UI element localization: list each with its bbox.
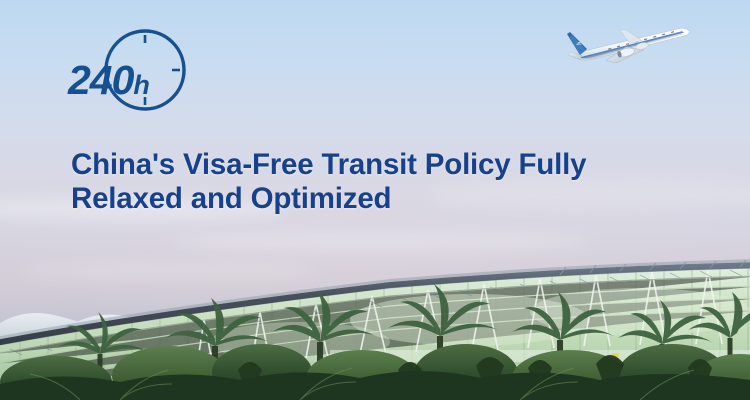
headline-line-2: Relaxed and Optimized	[71, 182, 631, 216]
logo-unit: h	[133, 70, 149, 100]
foreground-foliage	[0, 250, 750, 400]
logo-number: 240	[68, 57, 133, 103]
logo-text: 240h	[68, 60, 149, 101]
240h-clock-logo: 240h	[62, 18, 197, 118]
airport-scenery	[0, 250, 750, 400]
cloud-streak	[170, 232, 590, 252]
headline-line-1: China's Visa-Free Transit Policy Fully	[71, 148, 586, 181]
airplane-photo	[556, 22, 698, 68]
headline: China's Visa-Free Transit Policy Fully R…	[71, 148, 631, 216]
visa-free-transit-banner: 240h China's Visa-Free Transit Policy Fu…	[0, 0, 750, 400]
